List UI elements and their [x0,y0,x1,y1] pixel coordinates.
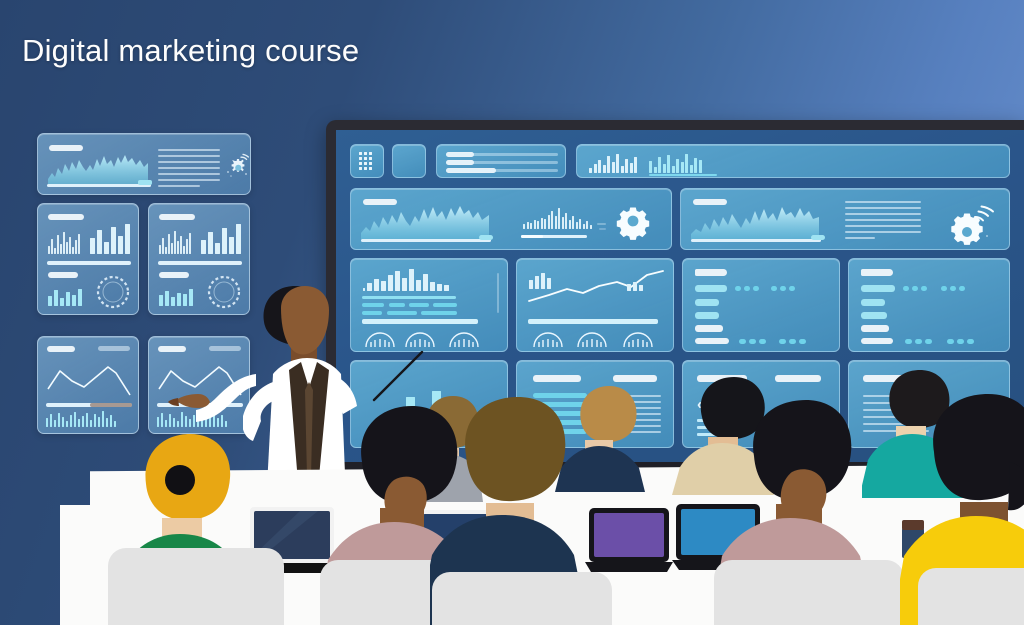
label-pill [209,346,241,351]
label-pill [48,214,84,220]
chair-front-mauve-right [714,560,904,625]
scroll-hint [497,273,499,313]
panel-conversion-table[interactable] [848,258,1010,352]
baseline-rule [361,239,491,242]
mini-bars-right [627,281,643,291]
highlight-rule [528,319,658,324]
label-pill [613,375,657,382]
row-pill [695,338,729,344]
marker-pill [811,235,825,240]
value-pill [739,339,746,344]
gear-wifi-icon [224,152,250,182]
label-pill [159,214,195,220]
label-pill [98,346,130,351]
value-pill [950,286,956,291]
row-pill [861,312,887,319]
value-pill [779,339,786,344]
value-pill [749,339,756,344]
illustration-scene: ‹ ‹ ‹ [0,0,1024,625]
progress-fill [90,403,132,407]
wall-panel-wide-analytics [37,133,251,195]
divider-rule [158,261,242,265]
progress-fill [521,235,543,238]
row-pill [861,325,889,332]
row-pill [695,285,727,292]
line-chart-up [525,267,667,309]
value-pill [947,339,954,344]
value-pill [903,286,909,291]
row-pill [695,325,723,332]
toolbar-blank-tile[interactable] [392,144,426,178]
chair-front-navy [432,572,612,625]
area-chart [361,203,489,239]
chair-front-yellow [918,568,1024,625]
value-pill [941,286,947,291]
toolbar-chart-strip[interactable] [576,144,1010,178]
toolbar-grid-tile[interactable] [350,144,384,178]
area-chart [691,203,819,239]
data-bars [48,288,82,306]
donut-gauge [94,272,132,315]
wall-panel-kpi-left [37,203,139,315]
row-pill [861,338,893,344]
value-pill [799,339,806,344]
line-chart [46,357,132,399]
strip-bars-light [589,153,637,173]
label-pill [695,269,727,276]
strip-underline [649,174,717,176]
decor-line [597,223,606,225]
value-pill [789,286,795,291]
strip-bars-cyan [649,153,702,173]
label-pill [48,272,78,278]
progress-track [446,161,558,164]
spark-bars [159,226,191,254]
gauge-2 [575,327,609,349]
panel-growth-trend[interactable] [516,258,674,352]
panel-traffic-overview[interactable] [350,188,672,250]
value-pill [771,286,777,291]
micro-bars [523,207,592,229]
chair-front-left [108,548,284,625]
decor-line [599,228,606,230]
label-pill [533,375,581,382]
column-bars [201,224,241,254]
row-pill [695,312,719,319]
panel-audience-table[interactable] [682,258,840,352]
value-pill [959,286,965,291]
value-pill [925,339,932,344]
page-title: Digital marketing course [22,33,359,69]
grid-icon [359,152,372,170]
progress-track [446,169,558,172]
label-pill [861,269,893,276]
divider-rule [47,261,131,265]
gauge-3 [621,327,655,349]
baseline-rule [47,184,151,187]
gauge-1 [531,327,565,349]
value-pill [957,339,964,344]
panel-channel-overview[interactable] [680,188,1010,250]
area-bar-chart [48,151,148,184]
label-pill [47,346,75,352]
value-pill [915,339,922,344]
toolbar-progress-tile[interactable] [436,144,566,178]
label-pill [158,346,186,352]
value-pill [753,286,759,291]
value-pill [789,339,796,344]
wall-panel-kpi-right [148,203,250,315]
gauge-3 [447,327,481,349]
gear-wifi-icon [949,201,997,245]
progress-track [446,153,558,156]
row-pill [861,285,895,292]
wall-panel-trend-left [37,336,139,434]
data-bars [159,288,193,306]
row-pill [861,299,885,306]
row-pill [695,299,719,306]
value-pill [759,339,766,344]
marker-pill [479,235,493,240]
value-pill [912,286,918,291]
tick-bars [46,411,116,427]
value-pill [921,286,927,291]
donut-gauge [205,272,243,315]
value-pill [967,339,974,344]
spark-bars [48,226,80,254]
column-bars [90,224,130,254]
value-pill [905,339,912,344]
value-pill [744,286,750,291]
instructor-pointing-arm [168,372,258,436]
value-pill [780,286,786,291]
gear-icon [613,201,653,241]
value-pill [735,286,741,291]
marker-pill [138,180,152,185]
baseline-rule [691,239,821,242]
label-pill [159,272,189,278]
